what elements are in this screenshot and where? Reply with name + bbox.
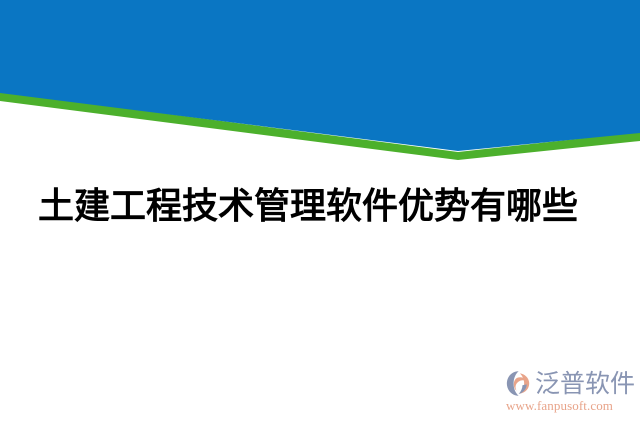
page-title: 土建工程技术管理软件优势有哪些 — [38, 186, 602, 228]
slide-canvas: 土建工程技术管理软件优势有哪些 泛普软件 www.fanpusoft.com — [0, 0, 640, 427]
decorative-chevron-banner — [0, 0, 640, 160]
brand-logo: 泛普软件 www.fanpusoft.com — [506, 368, 632, 412]
banner-blue-shape — [0, 0, 640, 151]
brand-wordmark: 泛普软件 — [535, 370, 635, 397]
brand-url: www.fanpusoft.com — [506, 398, 632, 413]
fanpu-swirl-logo-icon — [506, 370, 533, 397]
brand-logo-row: 泛普软件 — [506, 368, 632, 398]
